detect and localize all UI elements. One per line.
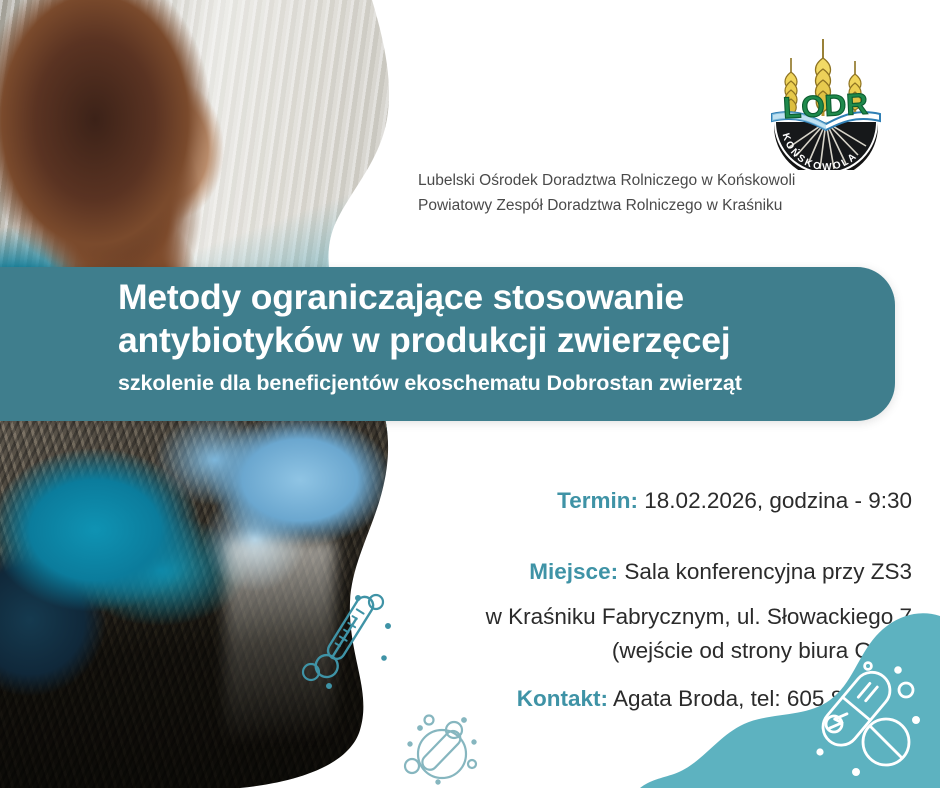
organisation-text: Lubelski Ośrodek Doradztwa Rolniczego w … <box>418 168 888 218</box>
contact-label: Kontakt: <box>517 686 608 711</box>
place-value-line-2: w Kraśniku Fabrycznym, ul. Słowackiego 7 <box>392 600 912 634</box>
tablet-pill-icon <box>398 706 490 788</box>
place-label: Miejsce: <box>529 559 618 584</box>
poster-canvas: KOŃSKOWOLA LODR Lubelski Ośrodek Doradzt… <box>0 0 940 788</box>
logo-acronym: LODR <box>782 88 869 125</box>
lodr-konskowola-logo: KOŃSKOWOLA LODR <box>756 22 896 170</box>
place-value-line-1: Sala konferencyjna przy ZS3 <box>624 559 912 584</box>
title-line-1: Metody ograniczające stosowanie <box>118 276 918 319</box>
detail-row-place: Miejsce: Sala konferencyjna przy ZS3 <box>392 555 912 588</box>
thermometer-icon <box>298 586 394 695</box>
date-value: 18.02.2026, godzina - 9:30 <box>644 488 912 513</box>
title-line-2: antybiotyków w produkcji zwierzęcej <box>118 319 918 362</box>
org-line-1: Lubelski Ośrodek Doradztwa Rolniczego w … <box>418 168 888 193</box>
headline-banner-text: Metody ograniczające stosowanie antybiot… <box>118 267 918 421</box>
capsule-pills-icon <box>812 660 928 785</box>
org-line-2: Powiatowy Zespół Doradztwa Rolniczego w … <box>418 193 888 218</box>
detail-row-date: Termin: 18.02.2026, godzina - 9:30 <box>392 484 912 517</box>
date-label: Termin: <box>557 488 638 513</box>
banner-subtitle: szkolenie dla beneficjentów ekoschematu … <box>118 369 918 397</box>
